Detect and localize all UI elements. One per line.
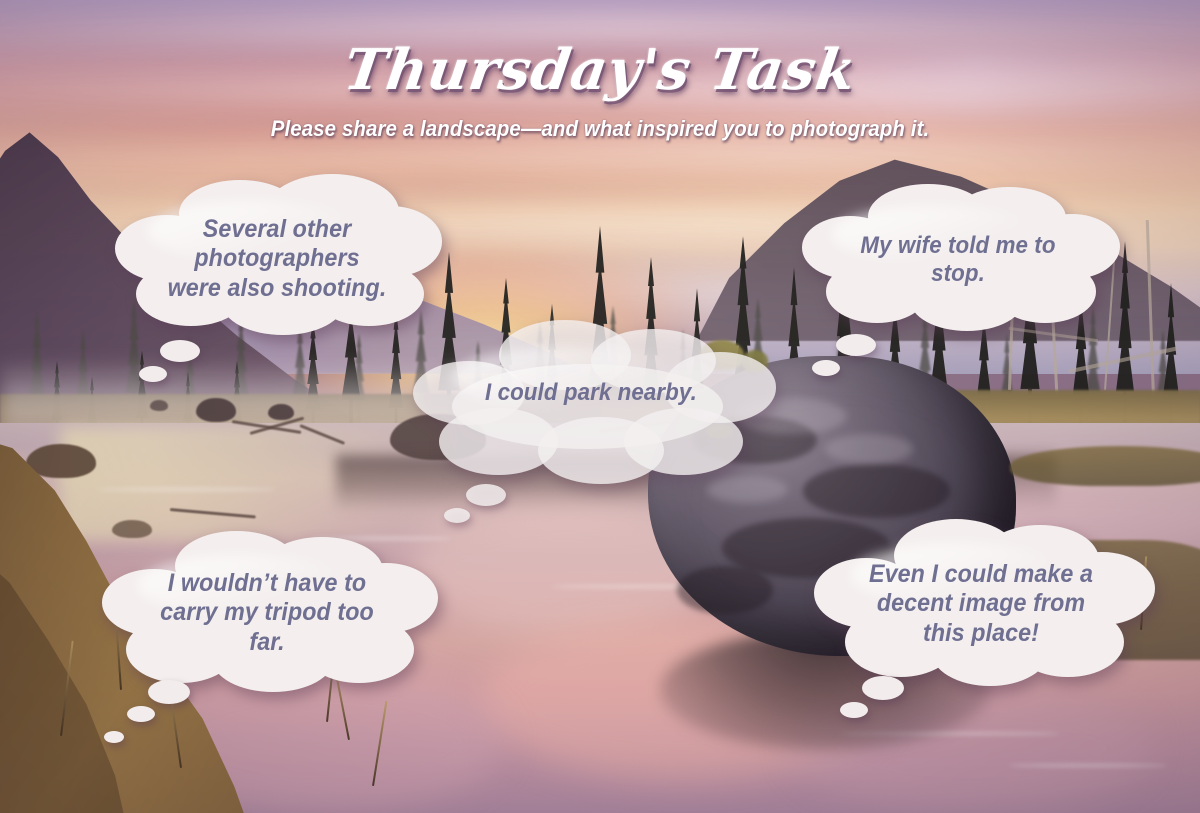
- thought-bubble-tripod: I wouldn’t have to carry my tripod too f…: [114, 540, 420, 686]
- bubble-text: My wife told me to stop.: [850, 232, 1066, 289]
- thought-bubble-decent-image: Even I could make a decent image from th…: [826, 528, 1136, 680]
- thought-bubble-wife: My wife told me to stop.: [808, 192, 1108, 328]
- bubble-text: I could park nearby.: [485, 379, 697, 407]
- page-subtitle: Please share a landscape—and what inspir…: [42, 116, 1158, 142]
- thought-trail-dot: [127, 706, 155, 722]
- thought-bubble-park: I could park nearby.: [426, 332, 756, 478]
- thought-trail-dot: [812, 360, 840, 376]
- right-bank-shrub: [1010, 446, 1200, 486]
- thought-trail-dot: [139, 366, 167, 382]
- thought-trail-dot: [104, 731, 124, 743]
- thought-trail-dot: [148, 680, 190, 704]
- river-rock: [268, 404, 294, 420]
- river-rock: [112, 520, 152, 538]
- water-streak: [96, 488, 276, 491]
- thought-trail-dot: [840, 702, 868, 718]
- poster-canvas: Thursday's Task Please share a landscape…: [0, 0, 1200, 813]
- river-rock: [150, 400, 168, 411]
- bubble-text: I wouldn’t have to carry my tripod too f…: [156, 569, 377, 658]
- thought-trail-dot: [862, 676, 904, 700]
- thought-trail-dot: [466, 484, 506, 506]
- bubble-text: Even I could make a decent image from th…: [868, 560, 1093, 649]
- thought-trail-dot: [160, 340, 200, 362]
- thought-bubble-photographers: Several other photographers were also sh…: [124, 186, 430, 332]
- thought-trail-dot: [836, 334, 876, 356]
- page-title: Thursday's Task: [0, 42, 1200, 98]
- bubble-text: Several other photographers were also sh…: [166, 215, 387, 304]
- thought-trail-dot: [444, 508, 470, 523]
- river-rock: [196, 398, 236, 422]
